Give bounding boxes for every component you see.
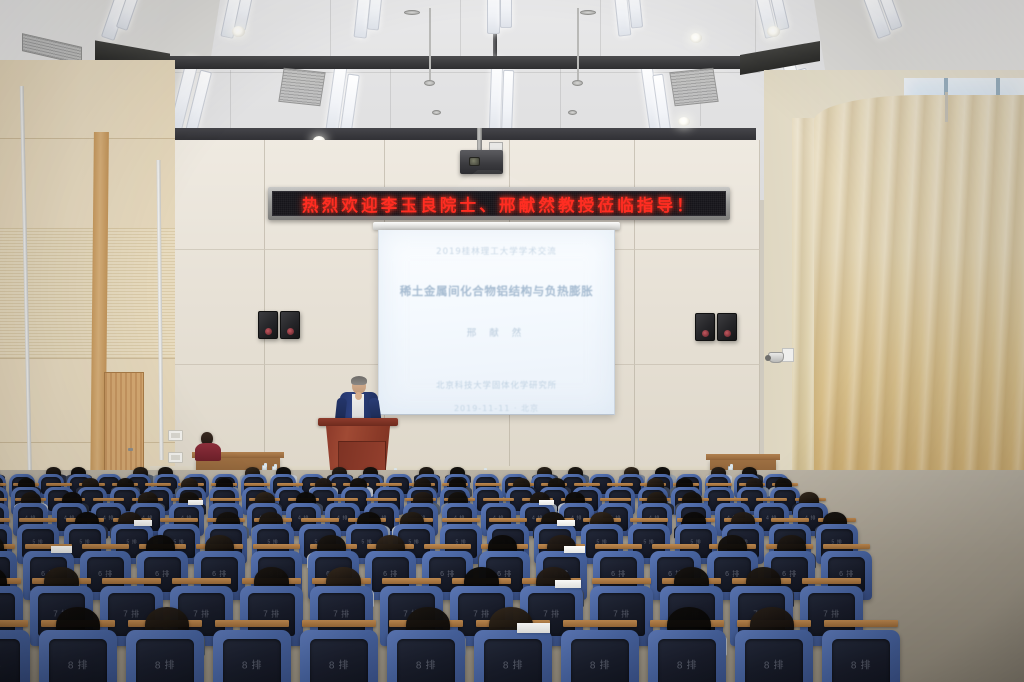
smoke-detector-icon xyxy=(568,110,577,115)
seat-row-label: 8 排 xyxy=(677,657,697,672)
seat-desk xyxy=(717,498,748,501)
handout-paper xyxy=(517,623,550,633)
seat-desk xyxy=(802,578,861,584)
seat-row-label: 8 排 xyxy=(0,657,1,672)
ceiling-beam xyxy=(150,56,750,69)
slide-title: 稀土金属间化合物铝结构与负热膨胀 xyxy=(400,283,594,299)
seat-desk xyxy=(630,518,668,522)
seat-desk xyxy=(823,544,870,549)
ceiling-fixture-icon xyxy=(580,10,596,15)
seat-desk xyxy=(382,578,441,584)
seat-desk xyxy=(253,544,300,549)
auditorium-seat[interactable]: 8 排 xyxy=(561,630,639,682)
seat-desk xyxy=(102,578,161,584)
handout-paper xyxy=(557,520,575,526)
auditorium-seat[interactable]: 8 排 xyxy=(0,630,30,682)
ceiling-fixture-icon xyxy=(404,10,420,15)
wall-switch[interactable] xyxy=(168,430,183,441)
seat-row-label: 7 排 xyxy=(613,608,629,619)
downlight-icon xyxy=(690,33,702,43)
seat-row-label: 8 排 xyxy=(503,657,523,672)
handout-paper xyxy=(188,500,203,505)
seat-desk xyxy=(563,620,637,627)
seat-row-label: 8 排 xyxy=(329,657,349,672)
auditorium-seat[interactable]: 8 排 xyxy=(822,630,900,682)
pendant-wire xyxy=(429,8,431,80)
seat-desk xyxy=(93,498,124,501)
curtain-panel-main xyxy=(814,95,1024,535)
smoke-detector-icon xyxy=(572,80,583,86)
seat-desk xyxy=(574,483,600,486)
seat-desk xyxy=(0,518,10,522)
seat-desk xyxy=(483,498,514,501)
seat-row-label: 7 排 xyxy=(123,608,139,619)
auditorium-seat[interactable]: 8 排 xyxy=(39,630,117,682)
seat-row-label: 7 排 xyxy=(473,608,489,619)
seat-desk xyxy=(0,620,28,627)
seat-row-label: 8 排 xyxy=(416,657,436,672)
seat-desk xyxy=(301,518,339,522)
podium-top xyxy=(318,418,398,426)
wall-speaker xyxy=(717,313,737,341)
ceiling-light-tube xyxy=(367,0,384,31)
seat-cushion xyxy=(0,639,20,682)
seat-desk xyxy=(824,620,898,627)
seat-desk xyxy=(652,544,699,549)
seat-row-label: 8 排 xyxy=(155,657,175,672)
seat-desk xyxy=(706,483,732,486)
seat-row-label: 8 排 xyxy=(764,657,784,672)
seat-row-label: 7 排 xyxy=(263,608,279,619)
seat-row-label: 8 排 xyxy=(590,657,610,672)
handout-paper xyxy=(555,580,581,588)
ceiling-light-tube xyxy=(487,0,500,34)
slide-header: 2019桂林理工大学学术交流 xyxy=(436,245,557,257)
seat-desk xyxy=(277,483,303,486)
downlight-icon xyxy=(232,26,245,37)
seat-desk xyxy=(424,544,471,549)
wall-speaker xyxy=(695,313,715,341)
seat-desk xyxy=(442,518,480,522)
seat-desk xyxy=(600,498,631,501)
auditorium-seat[interactable]: 8 排 xyxy=(126,630,204,682)
slide-presenter: 邢 献 然 xyxy=(467,325,527,339)
seat-desk xyxy=(327,498,358,501)
curtain-rod xyxy=(945,92,948,122)
left-wall xyxy=(0,60,175,490)
seat-desk xyxy=(172,578,231,584)
led-banner-text: 热烈欢迎李玉良院士、邢献然教授莅临指导！ xyxy=(302,192,696,216)
led-banner-screen: 热烈欢迎李玉良院士、邢献然教授莅临指导！ xyxy=(272,191,726,216)
wall-switch[interactable] xyxy=(168,452,183,463)
seat-desk xyxy=(489,518,527,522)
auditorium-seat[interactable]: 8 排 xyxy=(735,630,813,682)
presenter-hand xyxy=(355,392,362,400)
auditorium-seat[interactable]: 8 排 xyxy=(387,630,465,682)
seat-desk xyxy=(82,544,129,549)
seat-desk xyxy=(607,483,633,486)
slide-date: 2019-11-11 · 北京 xyxy=(454,403,539,414)
seat-desk xyxy=(244,483,270,486)
seat-desk xyxy=(215,620,289,627)
seat-row-label: 8 排 xyxy=(68,657,88,672)
seat-row-label: 8 排 xyxy=(242,657,262,672)
security-camera-icon xyxy=(768,352,784,363)
seat-desk xyxy=(592,578,651,584)
auditorium-seat[interactable]: 8 排 xyxy=(648,630,726,682)
seat-desk xyxy=(475,483,501,486)
projector-lens-icon xyxy=(469,157,480,166)
seat-desk xyxy=(366,498,397,501)
handout-paper xyxy=(51,546,72,553)
seat-desk xyxy=(145,483,171,486)
handout-paper xyxy=(564,546,585,553)
smoke-detector-icon xyxy=(432,110,441,115)
ceiling-light-tube xyxy=(500,0,512,28)
seat-desk xyxy=(376,483,402,486)
downlight-icon xyxy=(678,117,690,126)
handout-paper xyxy=(539,500,554,505)
seat-desk xyxy=(0,483,6,486)
led-banner: 热烈欢迎李玉良院士、邢献然教授莅临指导！ xyxy=(268,187,730,220)
seat-desk xyxy=(0,498,7,501)
screen-roller-housing xyxy=(373,222,620,230)
seat-desk xyxy=(46,483,72,486)
hvac-vent xyxy=(278,68,325,106)
wall-speaker xyxy=(258,311,278,339)
smoke-detector-icon xyxy=(424,80,435,86)
auditorium-seat[interactable]: 8 排 xyxy=(474,630,552,682)
auditorium-seat[interactable]: 8 排 xyxy=(213,630,291,682)
seat-row-label: 7 排 xyxy=(823,608,839,619)
door-handle-icon[interactable] xyxy=(128,448,133,451)
wall-speaker xyxy=(280,311,300,339)
podium-front-panel xyxy=(338,441,386,471)
seat-row-label: 7 排 xyxy=(193,608,209,619)
projector-mount-pole xyxy=(477,128,482,150)
seat-desk xyxy=(771,518,809,522)
hvac-vent xyxy=(669,68,718,107)
seat-desk xyxy=(160,518,198,522)
handout-paper xyxy=(134,520,152,526)
seat-desk xyxy=(756,498,787,501)
presenter-hair xyxy=(351,376,367,385)
seat-desk xyxy=(302,620,376,627)
moderator-body xyxy=(195,443,221,461)
seat-row-label: 8 排 xyxy=(851,657,871,672)
pendant-wire xyxy=(577,8,579,80)
projection-screen: 2019桂林理工大学学术交流 稀土金属间化合物铝结构与负热膨胀 邢 献 然 北京… xyxy=(378,230,615,415)
downlight-icon xyxy=(767,26,780,37)
seat-row-label: 7 排 xyxy=(333,608,349,619)
seat-desk xyxy=(19,518,57,522)
seat-desk xyxy=(595,544,642,549)
seat-row-label: 7 排 xyxy=(543,608,559,619)
lecture-hall-scene: 热烈欢迎李玉良院士、邢献然教授莅临指导！ 2019桂林理工大学学术交流 稀土金属… xyxy=(0,0,1024,682)
slide-organization: 北京科技大学固体化学研究所 xyxy=(436,379,557,391)
seat-desk xyxy=(210,498,241,501)
auditorium-seat[interactable]: 8 排 xyxy=(300,630,378,682)
